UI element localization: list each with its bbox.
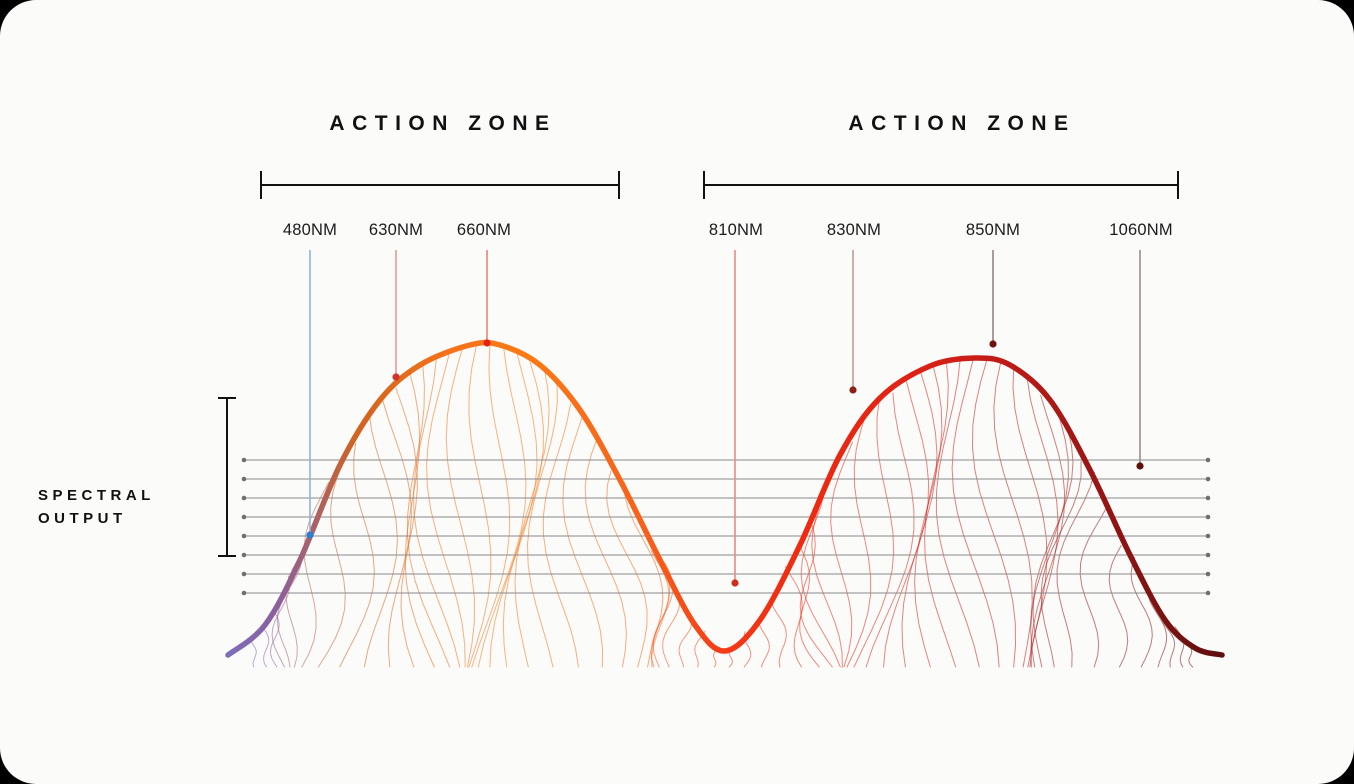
spectral-output-chart [0, 0, 1354, 784]
spectral-filament [847, 414, 871, 668]
marker-dot [306, 531, 313, 538]
gridline-dot-right [1206, 496, 1211, 501]
marker-dot [483, 339, 490, 346]
gridline-dot-right [1206, 458, 1211, 463]
gridline-dot-right [1206, 477, 1211, 482]
wavelength-marker-630nm [392, 250, 399, 381]
spectral-filament [1027, 379, 1058, 667]
spectral-filament [679, 623, 691, 667]
spectral-filament [785, 567, 802, 667]
filament-group [248, 345, 1193, 667]
spectral-filament [902, 369, 937, 667]
spectral-filament [528, 382, 558, 667]
spectral-filament [478, 345, 526, 667]
action-zone-bracket-right [704, 171, 1178, 199]
spectral-filament [663, 594, 680, 667]
spectral-filament [759, 620, 770, 667]
gridline-dot-left [242, 553, 247, 558]
wavelength-marker-850nm [989, 250, 996, 348]
marker-dot [849, 386, 856, 393]
gridline-dot-right [1206, 515, 1211, 520]
spectral-filament [915, 366, 942, 667]
marker-dot [731, 579, 738, 586]
gridline-dot-left [242, 496, 247, 501]
marker-dot [989, 340, 996, 347]
spectral-filament [1109, 545, 1128, 667]
spectral-output-bracket [218, 398, 236, 556]
spectral-filament [286, 530, 315, 667]
gridline-dot-right [1206, 534, 1211, 539]
spectral-filament [405, 371, 434, 667]
marker-dot [1136, 462, 1143, 469]
spectral-filament [884, 381, 929, 667]
spectral-output-curve [228, 343, 1222, 656]
gridline-dot-left [242, 458, 247, 463]
gridline-dot-left [242, 477, 247, 482]
wavelength-marker-660nm [483, 250, 490, 347]
spectral-filament [1031, 396, 1065, 668]
spectral-filament [585, 438, 626, 667]
gridline-dot-right [1206, 572, 1211, 577]
spectral-filament [396, 388, 418, 667]
spectral-filament [624, 482, 663, 667]
spectral-filament [469, 345, 491, 667]
gridline-dot-left [242, 515, 247, 520]
gridline-dot-left [242, 591, 247, 596]
gridline-dot-left [242, 572, 247, 577]
gridline-dot-right [1206, 553, 1211, 558]
wavelength-marker-480nm [306, 250, 313, 539]
gridline-dot-left [242, 534, 247, 539]
gridline-group [242, 458, 1211, 596]
spectral-filament [925, 364, 956, 667]
spectral-filament [1057, 473, 1094, 668]
marker-dot [392, 373, 399, 380]
gridline-dot-right [1206, 591, 1211, 596]
spectral-output-card: ACTION ZONE ACTION ZONE SPECTRAL OUTPUT … [0, 0, 1354, 784]
spectral-filament [772, 605, 786, 668]
wavelength-marker-1060nm [1136, 250, 1143, 470]
spectral-filament [446, 346, 474, 667]
spectral-filament [994, 364, 1032, 667]
wavelength-marker-830nm [849, 250, 856, 394]
spectral-filament [1080, 505, 1108, 667]
spectral-filament [607, 471, 647, 667]
spectral-filament [854, 398, 894, 667]
spectral-filament [515, 366, 549, 667]
spectral-filament [414, 360, 460, 667]
spectral-filament [302, 482, 329, 667]
action-zone-bracket-left [261, 171, 619, 199]
